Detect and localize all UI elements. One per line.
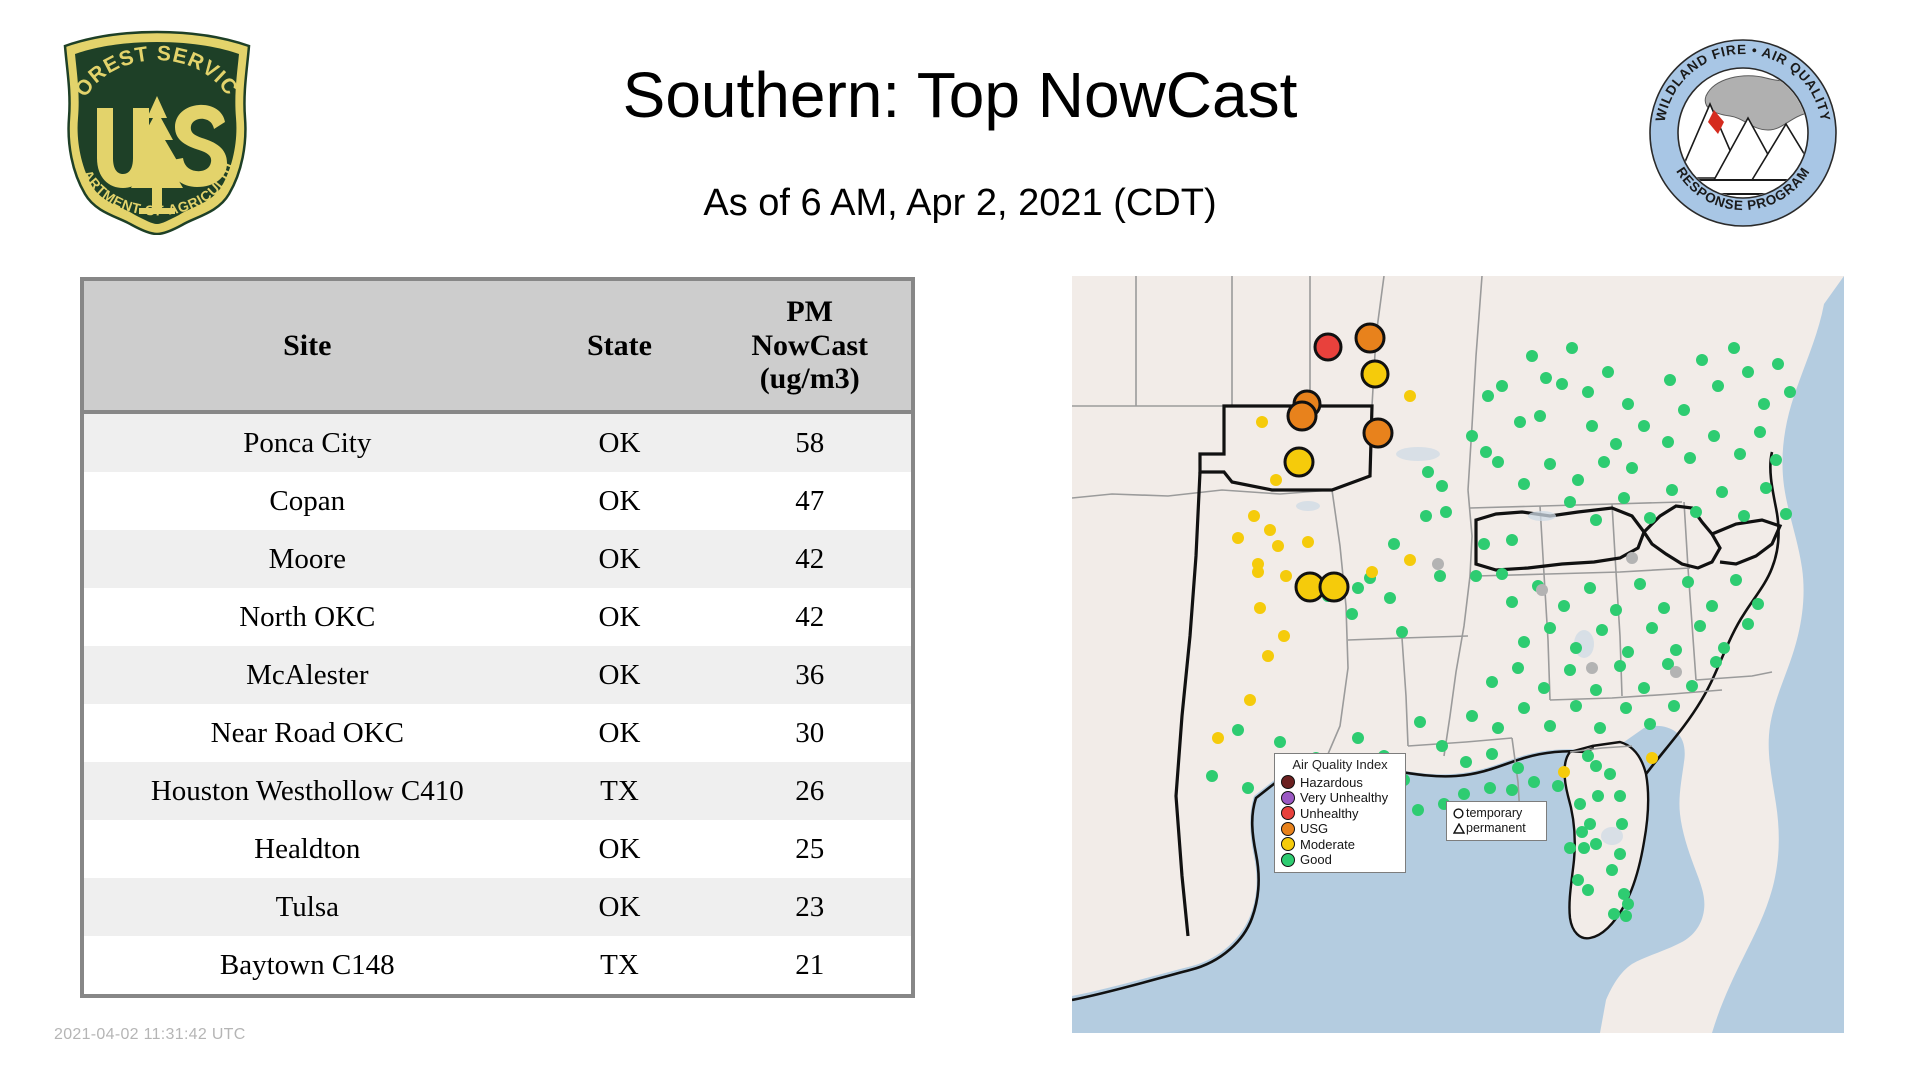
cell-pm: 42 (708, 530, 911, 588)
aqi-legend-label: Good (1300, 853, 1332, 866)
aqi-legend-item: Good (1281, 852, 1399, 868)
table-body: Ponca CityOK58CopanOK47MooreOK42North OK… (84, 412, 911, 994)
aqi-legend-swatch-icon (1281, 837, 1295, 851)
usfs-shield-logo: FOREST SERVICE DEPARTMENT OF AGRICULTURE (57, 30, 257, 235)
table-row[interactable]: North OKCOK42 (84, 588, 911, 646)
table-row[interactable]: Ponca CityOK58 (84, 412, 911, 472)
cell-site: Baytown C148 (84, 936, 531, 994)
aqi-legend-label: Moderate (1300, 838, 1355, 851)
aqi-legend-swatch-icon (1281, 806, 1295, 820)
column-header-pm-nowcast[interactable]: PM NowCast (ug/m3) (708, 281, 911, 412)
site-type-permanent: permanent (1451, 821, 1541, 836)
aqi-legend-item: Moderate (1281, 836, 1399, 852)
cell-site: Near Road OKC (84, 704, 531, 762)
cell-pm: 47 (708, 472, 911, 530)
table-row[interactable]: MooreOK42 (84, 530, 911, 588)
map-canvas (1072, 276, 1844, 1033)
site-type-temporary: temporary (1451, 806, 1541, 821)
site-type-legend: temporary permanent (1446, 801, 1547, 841)
table-header-row: Site State PM NowCast (ug/m3) (84, 281, 911, 412)
cell-pm: 36 (708, 646, 911, 704)
site-type-permanent-label: permanent (1466, 822, 1526, 835)
aqi-legend-rows: HazardousVery UnhealthyUnhealthyUSGModer… (1281, 774, 1399, 867)
table-row[interactable]: Near Road OKCOK30 (84, 704, 911, 762)
aqi-legend-item: USG (1281, 821, 1399, 837)
aqi-legend-label: Hazardous (1300, 776, 1363, 789)
cell-state: OK (531, 530, 709, 588)
highlighted-site-marker[interactable] (1356, 324, 1384, 352)
wfaqrp-logo: WILDLAND FIRE • AIR QUALITY RESPONSE PRO… (1648, 38, 1838, 228)
highlighted-site-marker[interactable] (1285, 448, 1313, 476)
table-row[interactable]: McAlesterOK36 (84, 646, 911, 704)
aqi-legend: Air Quality Index HazardousVery Unhealth… (1274, 753, 1406, 873)
slide-root: FOREST SERVICE DEPARTMENT OF AGRICULTURE (0, 0, 1920, 1080)
aqi-legend-item: Unhealthy (1281, 805, 1399, 821)
circle-outline-icon (1451, 808, 1466, 819)
column-header-pm-line1: PM (786, 295, 833, 328)
cell-site: North OKC (84, 588, 531, 646)
cell-site: McAlester (84, 646, 531, 704)
cell-pm: 26 (708, 762, 911, 820)
page-title: Southern: Top NowCast (380, 58, 1540, 132)
cell-pm: 23 (708, 878, 911, 936)
cell-pm: 25 (708, 820, 911, 878)
site-type-temporary-label: temporary (1466, 807, 1522, 820)
aqi-legend-label: Very Unhealthy (1300, 791, 1388, 804)
highlighted-site-marker[interactable] (1320, 573, 1348, 601)
cell-pm: 30 (708, 704, 911, 762)
aqi-monitor-map[interactable] (1072, 276, 1844, 1033)
table-row[interactable]: HealdtonOK25 (84, 820, 911, 878)
cell-state: OK (531, 820, 709, 878)
cell-state: OK (531, 588, 709, 646)
nowcast-table-container: Site State PM NowCast (ug/m3) Ponca City… (80, 277, 915, 998)
cell-site: Copan (84, 472, 531, 530)
cell-state: OK (531, 412, 709, 472)
highlighted-site-marker[interactable] (1364, 419, 1392, 447)
aqi-legend-item: Hazardous (1281, 774, 1399, 790)
cell-state: OK (531, 472, 709, 530)
cell-pm: 58 (708, 412, 911, 472)
cell-site: Ponca City (84, 412, 531, 472)
column-header-pm-line2: NowCast (751, 329, 868, 362)
cell-state: TX (531, 762, 709, 820)
nowcast-table: Site State PM NowCast (ug/m3) Ponca City… (84, 281, 911, 994)
table-header: Site State PM NowCast (ug/m3) (84, 281, 911, 412)
aqi-legend-title: Air Quality Index (1281, 758, 1399, 772)
table-row[interactable]: TulsaOK23 (84, 878, 911, 936)
aqi-legend-label: USG (1300, 822, 1328, 835)
column-header-pm-line3: (ug/m3) (760, 362, 860, 395)
cell-state: OK (531, 704, 709, 762)
cell-pm: 21 (708, 936, 911, 994)
aqi-legend-swatch-icon (1281, 822, 1295, 836)
cell-state: OK (531, 646, 709, 704)
cell-site: Healdton (84, 820, 531, 878)
table-row[interactable]: CopanOK47 (84, 472, 911, 530)
cell-site: Tulsa (84, 878, 531, 936)
column-header-state[interactable]: State (531, 281, 709, 412)
aqi-legend-label: Unhealthy (1300, 807, 1359, 820)
highlighted-site-marker[interactable] (1362, 361, 1388, 387)
aqi-legend-swatch-icon (1281, 791, 1295, 805)
page-subtitle: As of 6 AM, Apr 2, 2021 (CDT) (380, 182, 1540, 225)
column-header-site[interactable]: Site (84, 281, 531, 412)
aqi-legend-swatch-icon (1281, 775, 1295, 789)
table-row[interactable]: Baytown C148TX21 (84, 936, 911, 994)
aqi-legend-item: Very Unhealthy (1281, 790, 1399, 806)
cell-site: Houston Westhollow C410 (84, 762, 531, 820)
cell-site: Moore (84, 530, 531, 588)
highlighted-site-marker[interactable] (1288, 402, 1316, 430)
cell-state: OK (531, 878, 709, 936)
table-row[interactable]: Houston Westhollow C410TX26 (84, 762, 911, 820)
triangle-outline-icon (1451, 823, 1466, 834)
generation-timestamp: 2021-04-02 11:31:42 UTC (54, 1026, 246, 1044)
cell-pm: 42 (708, 588, 911, 646)
cell-state: TX (531, 936, 709, 994)
aqi-legend-swatch-icon (1281, 853, 1295, 867)
highlighted-site-marker[interactable] (1315, 334, 1341, 360)
